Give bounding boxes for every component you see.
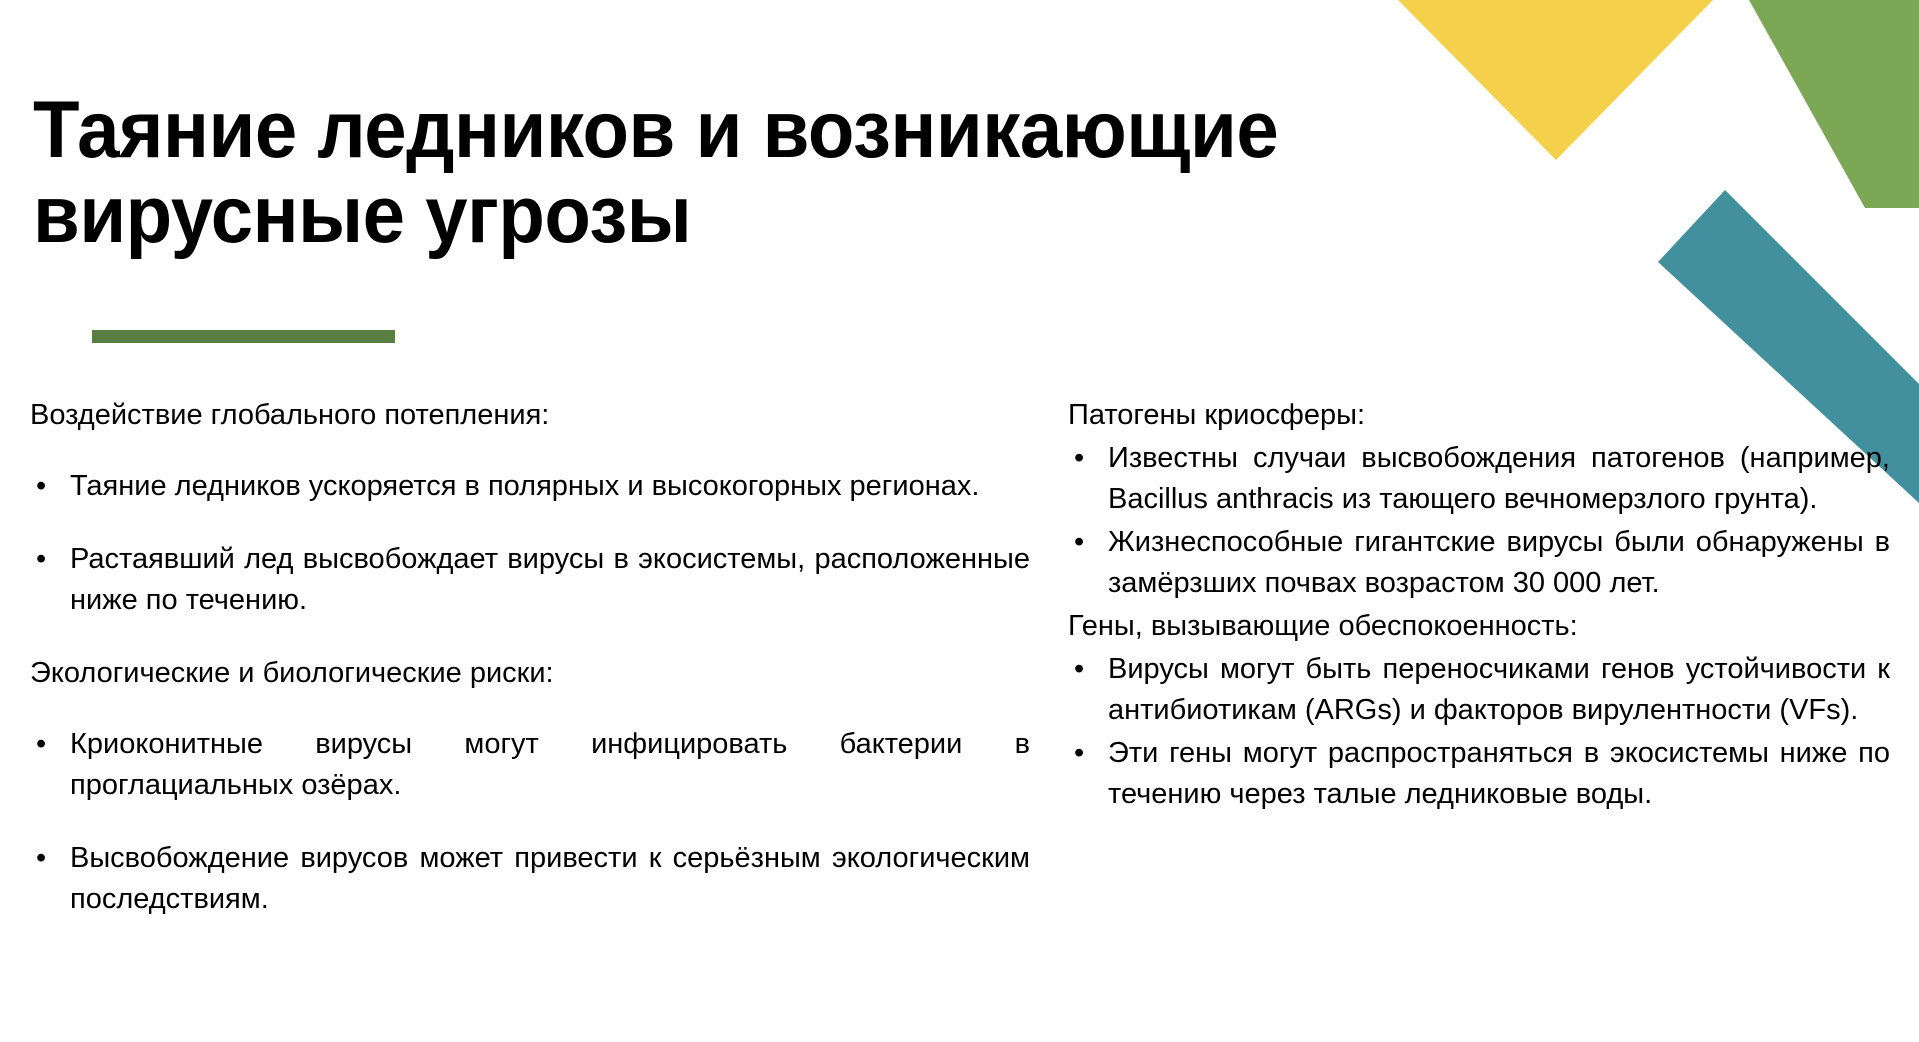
content-group: Экологические и биологические риски: • К…: [30, 653, 1030, 920]
title-block: Таяние ледников и возникающие вирусные у…: [33, 88, 1593, 258]
list-item: • Жизнеспособные гигантские вирусы были …: [1068, 522, 1890, 604]
bullet-list: • Криоконитные вирусы могут инфицировать…: [30, 724, 1030, 920]
bullet-list: • Известны случаи высвобождения патогено…: [1068, 438, 1890, 604]
list-item: • Известны случаи высвобождения патогено…: [1068, 438, 1890, 520]
list-item: • Высвобождение вирусов может привести к…: [30, 838, 1030, 920]
group-heading: Патогены криосферы:: [1068, 395, 1890, 436]
list-item-text: Таяние ледников ускоряется в полярных и …: [70, 470, 979, 502]
bullet-point-icon: •: [1074, 733, 1084, 774]
bullet-point-icon: •: [36, 724, 46, 765]
bullet-list: • Вирусы могут быть переносчиками генов …: [1068, 649, 1890, 815]
list-item: • Растаявший лед высвобождает вирусы в э…: [30, 539, 1030, 621]
bullet-point-icon: •: [1074, 522, 1084, 563]
list-item-text: Растаявший лед высвобождает вирусы в эко…: [70, 543, 1030, 616]
right-content-column: Патогены криосферы: • Известны случаи вы…: [1068, 395, 1890, 817]
list-item-text: Жизнеспособные гигантские вирусы были об…: [1108, 526, 1890, 599]
list-item-text: Вирусы могут быть переносчиками генов ус…: [1108, 653, 1890, 726]
list-item-text: Криоконитные вирусы могут инфицировать б…: [70, 728, 1030, 801]
bullet-point-icon: •: [1074, 438, 1084, 479]
group-heading: Экологические и биологические риски:: [30, 653, 1030, 694]
list-item: • Эти гены могут распространяться в экос…: [1068, 733, 1890, 815]
page-title: Таяние ледников и возникающие вирусные у…: [33, 88, 1499, 258]
bullet-point-icon: •: [36, 539, 46, 580]
list-item-text: Высвобождение вирусов может привести к с…: [70, 842, 1030, 915]
bullet-point-icon: •: [36, 466, 46, 507]
bullet-point-icon: •: [1074, 649, 1084, 690]
content-group: Патогены криосферы: • Известны случаи вы…: [1068, 395, 1890, 604]
list-item: • Таяние ледников ускоряется в полярных …: [30, 466, 1030, 507]
content-group: Гены, вызывающие обеспокоенность: • Виру…: [1068, 606, 1890, 815]
list-item: • Криоконитные вирусы могут инфицировать…: [30, 724, 1030, 806]
list-item-text: Эти гены могут распространяться в экосис…: [1108, 737, 1890, 810]
content-group: Воздействие глобального потепления: • Та…: [30, 395, 1030, 621]
bullet-list: • Таяние ледников ускоряется в полярных …: [30, 466, 1030, 621]
list-item-text: Известны случаи высвобождения патогенов …: [1108, 442, 1890, 515]
group-heading: Воздействие глобального потепления:: [30, 395, 1030, 436]
list-item: • Вирусы могут быть переносчиками генов …: [1068, 649, 1890, 731]
slide-canvas: Таяние ледников и возникающие вирусные у…: [0, 0, 1919, 1042]
bullet-point-icon: •: [36, 838, 46, 879]
title-underline-rule: [92, 330, 395, 343]
green-diagonal-band: [1749, 0, 1919, 208]
left-content-column: Воздействие глобального потепления: • Та…: [30, 395, 1030, 952]
group-heading: Гены, вызывающие обеспокоенность:: [1068, 606, 1890, 647]
